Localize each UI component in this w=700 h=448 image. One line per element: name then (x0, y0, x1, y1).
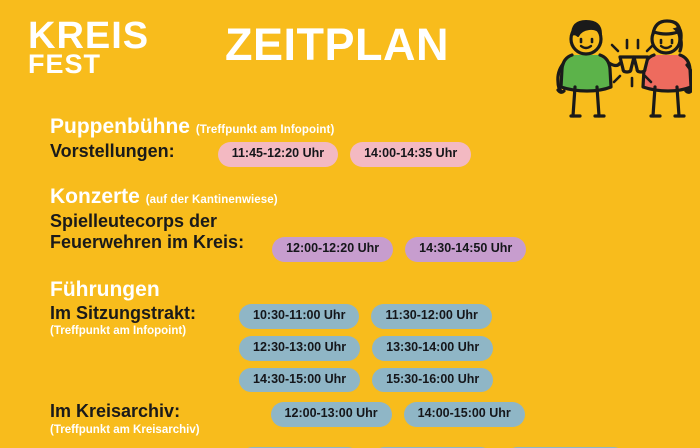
row-label-line2: Feuerwehren im Kreis: (50, 232, 244, 252)
time-pill[interactable]: 15:30-16:00 Uhr (372, 368, 493, 393)
section-fuehrungen: Führungen Im Sitzungstrakt: (Treffpunkt … (50, 279, 692, 448)
schedule-row-vorstellungen: Vorstellungen: 11:45-12:20 Uhr 14:00-14:… (50, 141, 692, 167)
time-pill[interactable]: 11:45-12:20 Uhr (218, 142, 338, 167)
schedule-poster: KREIS FEST ZEITPLAN (0, 0, 700, 448)
row-label: Im Sitzungstrakt: (Treffpunkt am Infopoi… (50, 303, 196, 339)
page-title: ZEITPLAN (225, 22, 449, 67)
time-pill[interactable]: 14:30-15:00 Uhr (239, 368, 360, 393)
time-pill[interactable]: 12:00-12:20 Uhr (272, 237, 393, 262)
section-konzerte: Konzerte (auf der Kantinenwiese) Spielle… (50, 186, 692, 262)
section-heading-note: (Treffpunkt am Infopoint) (196, 124, 335, 136)
row-label: Spielleutecorps der Feuerwehren im Kreis… (50, 211, 244, 253)
section-heading-note: (auf der Kantinenwiese) (146, 194, 278, 206)
schedule-row-sitzungstrakt: Im Sitzungstrakt: (Treffpunkt am Infopoi… (50, 303, 692, 392)
row-label-text: Vorstellungen: (50, 141, 175, 161)
section-puppenbuehne: Puppenbühne (Treffpunkt am Infopoint) Vo… (50, 116, 692, 167)
section-heading-text: Konzerte (50, 185, 140, 208)
time-pill[interactable]: 12:30-13:00 Uhr (239, 336, 360, 361)
row-label-text: Im Sitzungstrakt: (50, 303, 196, 323)
time-pill-group: 11:45-12:20 Uhr 14:00-14:35 Uhr (218, 142, 472, 167)
time-pill[interactable]: 14:00-15:00 Uhr (404, 402, 525, 427)
row-label-note: (Treffpunkt am Infopoint) (50, 325, 196, 339)
row-label: Vorstellungen: (50, 141, 175, 162)
section-heading-konzerte: Konzerte (auf der Kantinenwiese) (50, 186, 692, 208)
time-pill-group: 10:30-11:00 Uhr 11:30-12:00 Uhr 12:30-13… (239, 304, 597, 392)
two-people-toasting-illustration (542, 8, 692, 120)
section-heading-puppenbuehne: Puppenbühne (Treffpunkt am Infopoint) (50, 116, 692, 138)
logo-line-fest: FEST (28, 52, 149, 78)
time-pill[interactable]: 13:30-14:00 Uhr (372, 336, 493, 361)
time-pill[interactable]: 10:30-11:00 Uhr (239, 304, 359, 329)
time-pill-group: 12:00-13:00 Uhr 14:00-15:00 Uhr (271, 402, 525, 427)
kreis-fest-logo: KREIS FEST (28, 18, 149, 80)
row-label-text: Im Kreisarchiv: (50, 401, 180, 421)
schedule-row-spielleutecorps: Spielleutecorps der Feuerwehren im Kreis… (50, 211, 692, 262)
time-pill-group: 12:00-12:20 Uhr 14:30-14:50 Uhr (272, 237, 526, 262)
row-label-line1: Spielleutecorps der (50, 211, 217, 231)
time-pill[interactable]: 12:00-13:00 Uhr (271, 402, 392, 427)
row-label: Im Kreisarchiv: (Treffpunkt am Kreisarch… (50, 401, 200, 437)
row-label-note: (Treffpunkt am Kreisarchiv) (50, 424, 200, 438)
time-pill[interactable]: 14:00-14:35 Uhr (350, 142, 471, 167)
section-heading-text: Führungen (50, 278, 160, 301)
schedule-row-kreisarchiv: Im Kreisarchiv: (Treffpunkt am Kreisarch… (50, 401, 692, 437)
time-pill[interactable]: 11:30-12:00 Uhr (371, 304, 491, 329)
section-heading-fuehrungen: Führungen (50, 279, 692, 301)
time-pill[interactable]: 14:30-14:50 Uhr (405, 237, 526, 262)
section-heading-text: Puppenbühne (50, 115, 190, 138)
